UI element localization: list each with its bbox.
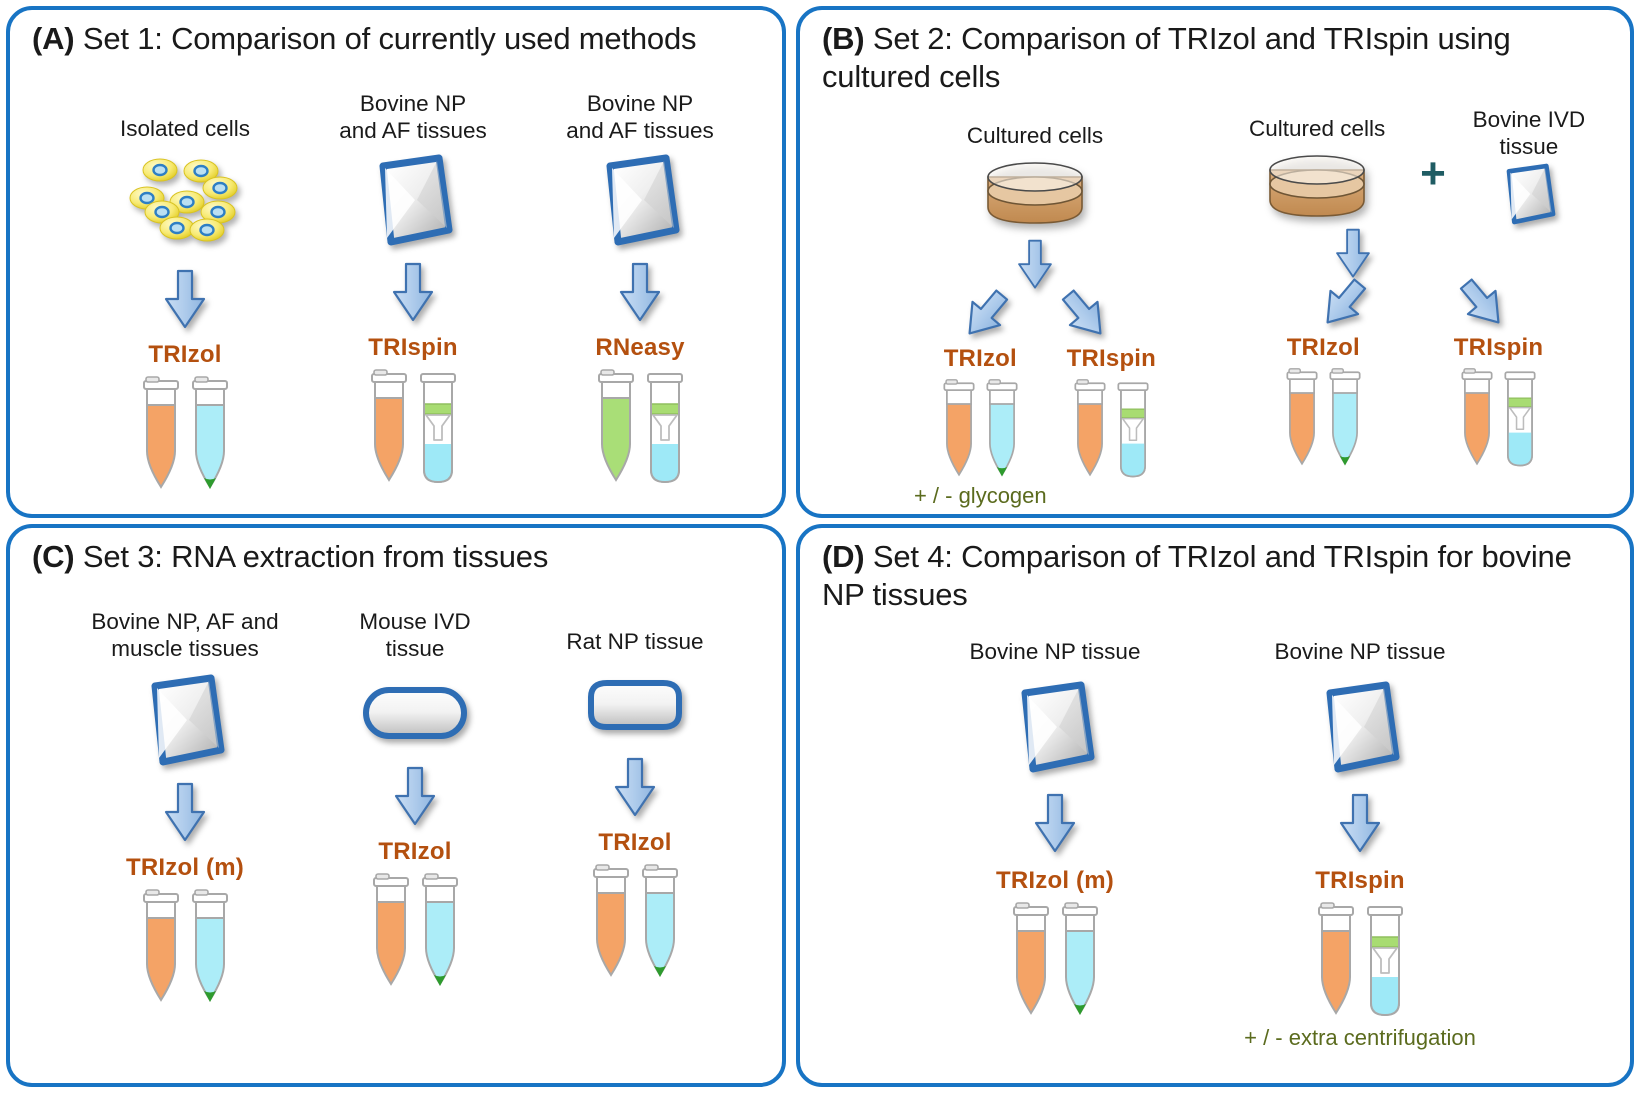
down-arrow-icon	[1215, 793, 1505, 855]
panel-c-column-1: Bovine NP, AF and muscle tissues TRIzol …	[60, 608, 310, 1006]
isolated-cells-cluster-icon	[70, 150, 300, 255]
panel-a-caption-3: Bovine NP and AF tissues	[525, 90, 755, 144]
trispin-tubes-icon	[1215, 901, 1505, 1019]
panel-d-caption-1: Bovine NP tissue	[910, 638, 1200, 665]
panel-b-branch-1a: TRIzol + / - glycogen	[914, 345, 1047, 509]
panel-c-caption-1: Bovine NP, AF and muscle tissues	[60, 608, 310, 662]
branch-arrows	[1208, 276, 1618, 332]
tissue-block-icon	[525, 152, 755, 248]
down-arrow-icon	[910, 793, 1200, 855]
panel-c-method-3: TRIzol	[520, 829, 750, 857]
panel-b-caption-1: Cultured cells	[910, 122, 1160, 149]
panel-c-title-text: Set 3: RNA extraction from tissues	[83, 539, 548, 574]
panel-b-group-1: Cultured cells TRIzol	[910, 122, 1160, 509]
panel-b-branch-2a: TRIzol	[1283, 334, 1364, 470]
trizol-tubes-icon	[520, 863, 750, 981]
branch-arrow-right-icon	[1055, 287, 1115, 343]
tissue-pill-icon	[310, 682, 520, 744]
panel-c-method-2: TRIzol	[310, 838, 520, 866]
figure-root: (A) Set 1: Comparison of currently used …	[0, 0, 1640, 1093]
panel-d-title: (D) Set 4: Comparison of TRIzol and TRIs…	[822, 538, 1618, 615]
trizol-tubes-icon	[914, 377, 1047, 481]
panel-c-caption-3: Rat NP tissue	[520, 628, 750, 655]
panel-a-column-3: Bovine NP and AF tissues RNeasy	[525, 90, 755, 486]
panel-b-method-1b: TRIspin	[1067, 345, 1156, 373]
down-arrow-icon	[70, 269, 300, 331]
tissue-block-icon	[1215, 679, 1505, 775]
panel-c-caption-2: Mouse IVD tissue	[310, 608, 520, 662]
trispin-tubes-icon	[1454, 366, 1543, 470]
panel-b-note-glycogen: + / - glycogen	[914, 483, 1047, 509]
down-arrow-icon	[60, 782, 310, 844]
down-arrow-icon	[525, 262, 755, 324]
panel-b-title-text: Set 2: Comparison of TRIzol and TRIspin …	[822, 21, 1511, 94]
branch-arrow-right-icon	[1453, 276, 1513, 332]
trizol-tubes-icon	[910, 901, 1200, 1019]
tissue-block-icon	[298, 152, 528, 248]
panel-a: (A) Set 1: Comparison of currently used …	[6, 6, 786, 518]
down-arrow-icon	[310, 766, 520, 828]
panel-c: (C) Set 3: RNA extraction from tissues B…	[6, 524, 786, 1087]
tissue-block-icon	[60, 672, 310, 768]
panel-d-label: (D)	[822, 539, 864, 574]
panel-a-caption-1: Isolated cells	[70, 115, 300, 142]
culture-dish-icon	[910, 155, 1160, 233]
branch-arrows	[910, 287, 1160, 343]
branch-arrow-left-icon	[955, 287, 1015, 343]
panel-c-method-1: TRIzol (m)	[60, 854, 310, 882]
trizol-tubes-icon	[70, 375, 300, 493]
panel-a-column-1: Isolated cells	[70, 115, 300, 493]
trispin-tubes-icon	[1067, 377, 1156, 481]
panel-b-branch-2b: TRIspin	[1454, 334, 1543, 470]
trizol-tubes-icon	[1283, 366, 1364, 470]
panel-d-note-centrifugation: + / - extra centrifugation	[1215, 1025, 1505, 1051]
panel-a-method-1: TRIzol	[70, 341, 300, 369]
panel-b-caption-3: Bovine IVD tissue	[1454, 106, 1604, 160]
down-arrow-icon	[1208, 228, 1618, 280]
panel-d-column-1: Bovine NP tissue TRIzol (m)	[910, 638, 1200, 1019]
panel-b-title: (B) Set 2: Comparison of TRIzol and TRIs…	[822, 20, 1618, 97]
trispin-tubes-icon	[298, 368, 528, 486]
plus-symbol: +	[1420, 152, 1446, 226]
down-arrow-icon	[520, 757, 750, 819]
panel-b-label: (B)	[822, 21, 864, 56]
panel-a-label: (A)	[32, 21, 74, 56]
panel-d-caption-2: Bovine NP tissue	[1215, 638, 1505, 665]
panel-d-method-2: TRIspin	[1215, 867, 1505, 895]
tissue-rounded-icon	[520, 677, 750, 735]
panel-b-method-2a: TRIzol	[1283, 334, 1364, 362]
tissue-block-icon	[1454, 162, 1604, 226]
culture-dish-icon	[1222, 148, 1412, 226]
trizol-tubes-icon	[310, 872, 520, 990]
trizol-tubes-icon	[60, 888, 310, 1006]
panel-d-method-1: TRIzol (m)	[910, 867, 1200, 895]
panel-d-column-2: Bovine NP tissue TRIspin + / - extra cen…	[1215, 638, 1505, 1051]
panel-b-branch-1b: TRIspin	[1067, 345, 1156, 509]
panel-a-title-text: Set 1: Comparison of currently used meth…	[83, 21, 696, 56]
tissue-block-icon	[910, 679, 1200, 775]
panel-a-caption-2: Bovine NP and AF tissues	[298, 90, 528, 144]
panel-b-method-2b: TRIspin	[1454, 334, 1543, 362]
panel-b-group-2: Cultured cells + Bovine IVD tissue	[1208, 106, 1618, 470]
panel-a-title: (A) Set 1: Comparison of currently used …	[32, 20, 770, 58]
panel-c-title: (C) Set 3: RNA extraction from tissues	[32, 538, 770, 576]
panel-d-title-text: Set 4: Comparison of TRIzol and TRIspin …	[822, 539, 1572, 612]
panel-b-method-1a: TRIzol	[914, 345, 1047, 373]
panel-a-column-2: Bovine NP and AF tissues TRIspin	[298, 90, 528, 486]
down-arrow-icon	[298, 262, 528, 324]
panel-c-column-3: Rat NP tissue TRIzol	[520, 628, 750, 981]
panel-d: (D) Set 4: Comparison of TRIzol and TRIs…	[796, 524, 1634, 1087]
panel-b-caption-2: Cultured cells	[1222, 115, 1412, 142]
down-arrow-icon	[910, 239, 1160, 291]
branch-arrow-left-icon	[1313, 276, 1373, 332]
panel-c-column-2: Mouse IVD tissue TRIzol	[310, 608, 520, 990]
rneasy-tubes-icon	[525, 368, 755, 486]
panel-a-method-2: TRIspin	[298, 334, 528, 362]
panel-a-method-3: RNeasy	[525, 334, 755, 362]
panel-b: (B) Set 2: Comparison of TRIzol and TRIs…	[796, 6, 1634, 518]
panel-c-label: (C)	[32, 539, 74, 574]
